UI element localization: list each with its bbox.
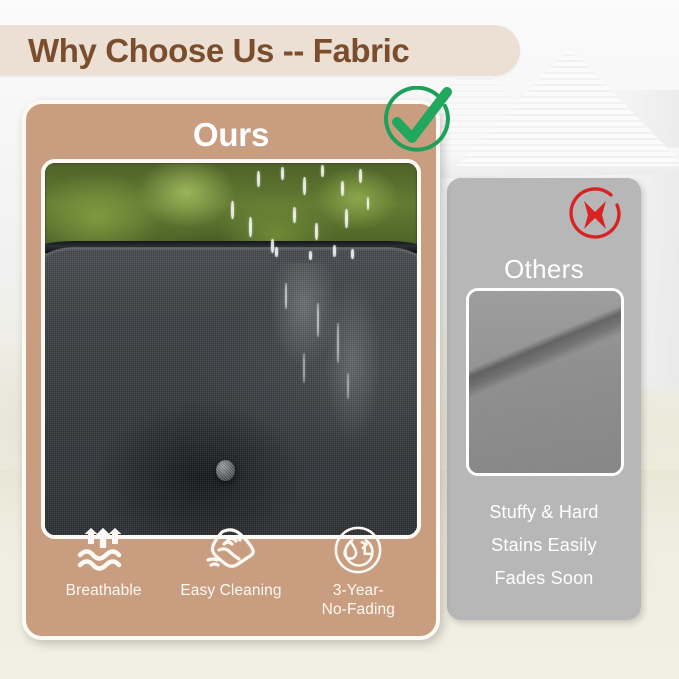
green-check-icon — [379, 86, 455, 160]
others-panel: Others Stuffy & Hard Stains Easily Fades… — [447, 178, 641, 620]
water-sheet — [243, 263, 395, 477]
feature-label-line1: 3-Year- — [333, 582, 384, 599]
page-title: Why Choose Us -- Fabric — [28, 32, 409, 70]
feature-easy-cleaning: Easy Cleaning — [171, 525, 291, 600]
feature-label: Breathable — [44, 581, 164, 600]
no-fading-icon — [298, 525, 418, 575]
feature-list: Breathable Easy Cleaning — [26, 525, 436, 620]
feature-breathable: Breathable — [44, 525, 164, 600]
feature-label: 3-Year- No-Fading — [298, 581, 418, 619]
breathable-icon — [44, 525, 164, 575]
cushion-tuft-button — [216, 460, 235, 481]
others-drawback-item: Stuffy & Hard — [447, 496, 641, 529]
red-x-icon — [564, 184, 626, 246]
others-drawback-list: Stuffy & Hard Stains Easily Fades Soon — [447, 496, 641, 595]
ours-photo — [41, 159, 421, 539]
others-title: Others — [447, 254, 641, 285]
ours-panel: Ours — [22, 100, 440, 640]
title-banner: Why Choose Us -- Fabric — [0, 25, 520, 76]
others-drawback-item: Stains Easily — [447, 529, 641, 562]
feature-no-fading: 3-Year- No-Fading — [298, 525, 418, 619]
easy-cleaning-icon — [171, 525, 291, 575]
ours-title: Ours — [26, 116, 436, 154]
infographic-canvas: Others Stuffy & Hard Stains Easily Fades… — [0, 0, 679, 679]
others-drawback-item: Fades Soon — [447, 562, 641, 595]
others-photo — [466, 288, 624, 476]
feature-label-line2: No-Fading — [322, 601, 395, 618]
feature-label: Easy Cleaning — [171, 581, 291, 600]
